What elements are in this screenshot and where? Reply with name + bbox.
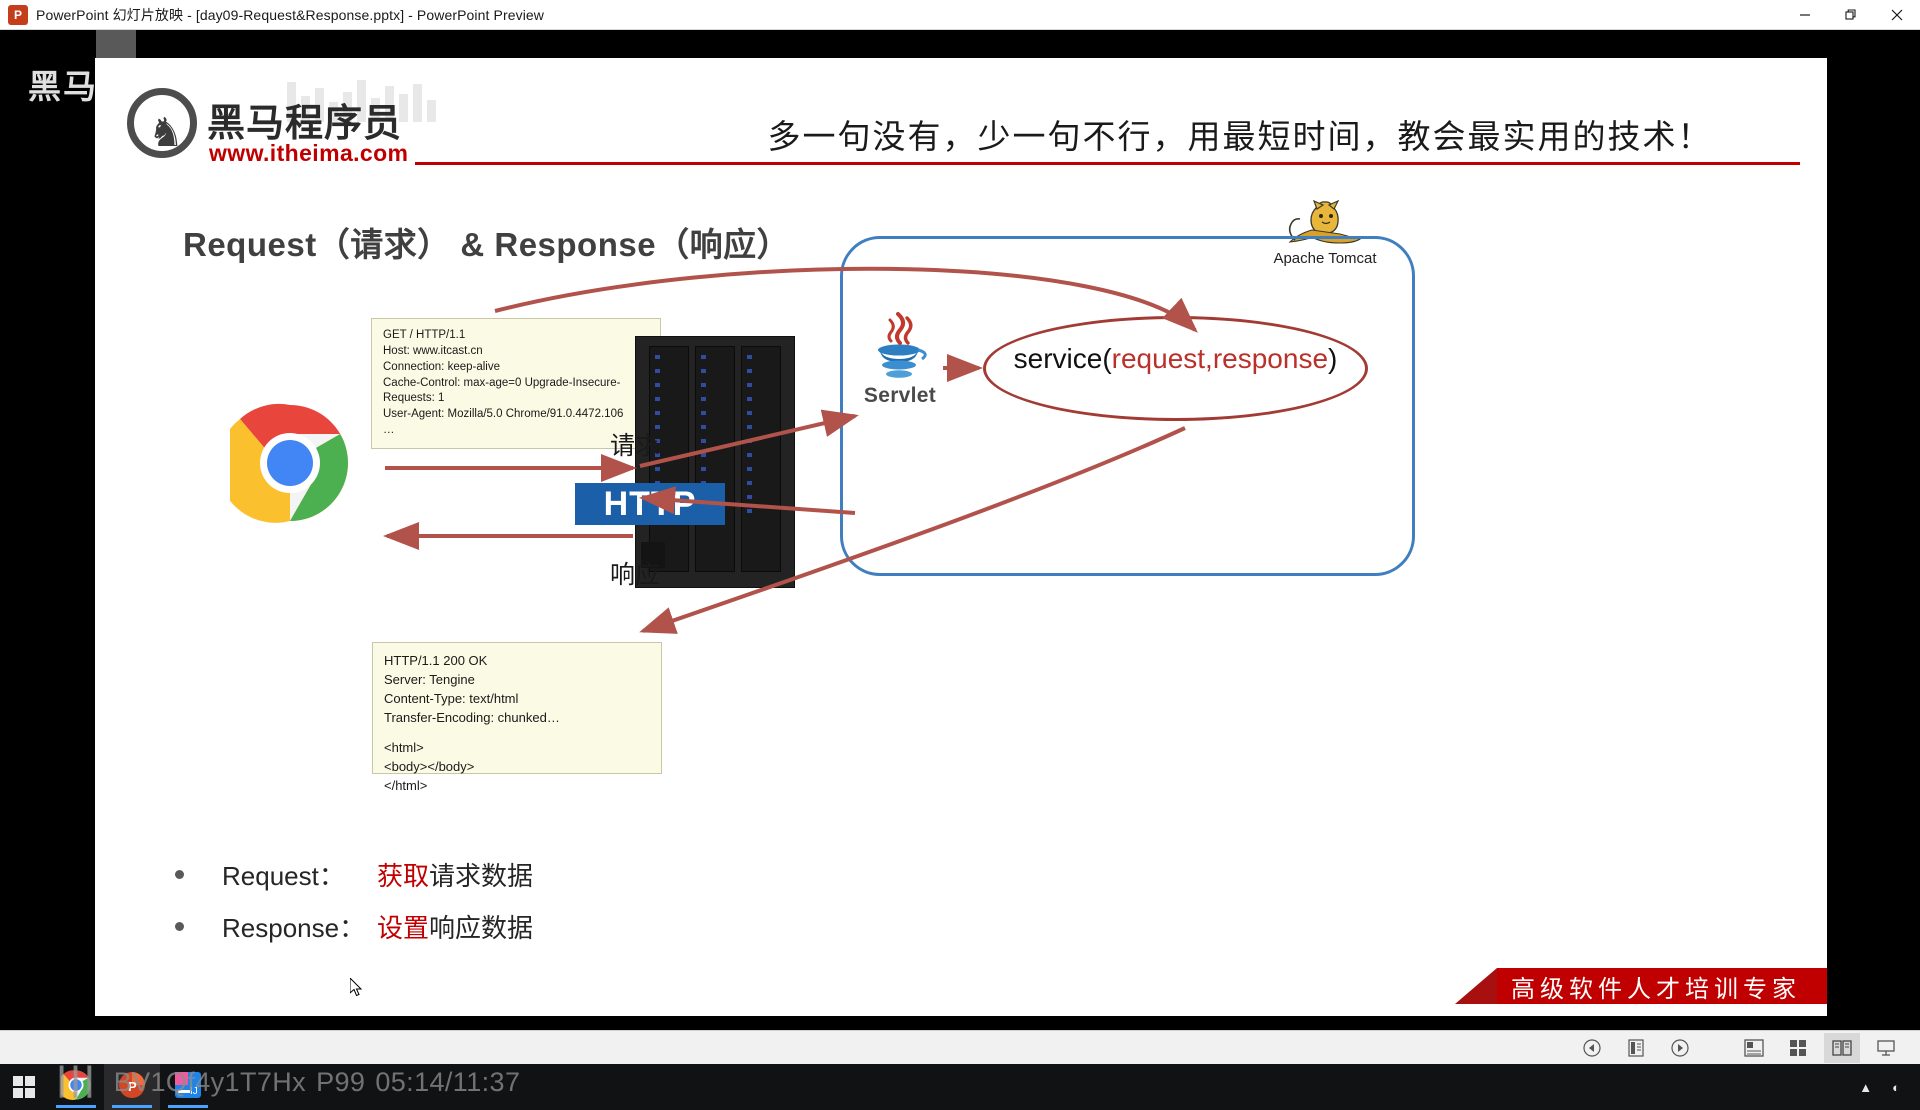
response-body-0: <html>	[384, 739, 651, 758]
chrome-icon	[230, 403, 350, 523]
page-title: Request（请求） & Response（响应）	[183, 218, 790, 266]
previous-slide-button[interactable]	[1574, 1033, 1610, 1063]
slideshow-button[interactable]	[1868, 1033, 1904, 1063]
service-call-text: service(request,response)	[983, 343, 1368, 375]
service-suffix: )	[1328, 343, 1337, 374]
java-cup-icon	[864, 310, 936, 388]
taskbar-active-indicator	[168, 1105, 208, 1108]
slide-canvas: ♞ 黑马程序员 www.itheima.com 多一句没有，少一句不行，用最短时…	[95, 58, 1827, 1016]
svg-text:P: P	[128, 1079, 137, 1094]
servlet-node: Servlet	[860, 310, 940, 408]
footer-ribbon: 高级软件人才培训专家	[1455, 968, 1827, 1004]
http-response-box: HTTP/1.1 200 OK Server: Tengine Content-…	[372, 642, 662, 774]
bullet-list: Request： 获取 请求数据 Response： 设置 响应数据	[175, 848, 875, 952]
tray-chevron-up-icon[interactable]: ▲	[1859, 1080, 1872, 1095]
brand-logo: ♞ 黑马程序员 www.itheima.com	[127, 82, 457, 172]
request-flow-label: 请求	[575, 426, 695, 462]
bullet-highlight: 获取	[377, 856, 429, 893]
next-slide-button[interactable]	[1662, 1033, 1698, 1063]
minimize-icon[interactable]	[1782, 0, 1828, 29]
response-spacer	[384, 727, 651, 739]
service-prefix: service(	[1014, 343, 1112, 374]
restore-icon[interactable]	[1828, 0, 1874, 29]
close-icon[interactable]	[1874, 0, 1920, 29]
ribbon-arrow-decor	[1455, 968, 1497, 1004]
windows-taskbar: P IJ ▲ ◐	[0, 1064, 1920, 1110]
list-item: Response： 设置 响应数据	[175, 900, 875, 952]
slogan-divider	[415, 162, 1800, 165]
service-args: request,response	[1112, 343, 1328, 374]
ribbon-text: 高级软件人才培训专家	[1497, 968, 1827, 1004]
taskbar-chrome-icon[interactable]	[48, 1064, 104, 1110]
taskbar-powerpoint-icon[interactable]: P	[104, 1064, 160, 1110]
bullet-highlight: 设置	[377, 908, 429, 945]
slideshow-surface: 黑马程 ♞ 黑马程序员 www.itheima.com 多一句没有，少一句不行，…	[0, 30, 1920, 1080]
slide-sorter-button[interactable]	[1780, 1033, 1816, 1063]
response-body-1: <body></body>	[384, 758, 651, 777]
http-protocol-badge: HTTP	[575, 483, 725, 525]
bullet-rest: 响应数据	[429, 908, 533, 945]
logo-url: www.itheima.com	[209, 140, 408, 167]
tray-network-icon[interactable]: ◐	[1892, 1080, 1900, 1095]
response-line-0: HTTP/1.1 200 OK	[384, 652, 651, 671]
bullet-dot-icon	[175, 922, 184, 931]
horse-icon: ♞	[148, 113, 184, 153]
list-item: Request： 获取 请求数据	[175, 848, 875, 900]
taskbar-active-indicator	[112, 1105, 152, 1108]
mouse-cursor	[350, 978, 364, 1003]
logo-brand-name: 黑马程序员	[207, 92, 402, 147]
response-line-2: Content-Type: text/html	[384, 690, 651, 709]
bullet-term: Response：	[222, 908, 377, 945]
taskbar-active-indicator	[56, 1105, 96, 1108]
request-line-0: GET / HTTP/1.1	[383, 328, 650, 344]
reading-view-button[interactable]	[1824, 1033, 1860, 1063]
powerpoint-status-bar	[0, 1030, 1920, 1064]
bullet-rest: 请求数据	[429, 856, 533, 893]
window-title-bar: P PowerPoint 幻灯片放映 - [day09-Request&Resp…	[0, 0, 1920, 30]
view-controls	[1570, 1033, 1920, 1063]
response-line-3: Transfer-Encoding: chunked…	[384, 709, 651, 728]
response-line-1: Server: Tengine	[384, 671, 651, 690]
bullet-dot-icon	[175, 870, 184, 879]
taskbar-idea-icon[interactable]: IJ	[160, 1064, 216, 1110]
svg-text:IJ: IJ	[190, 1086, 198, 1097]
request-line-1: Host: www.itcast.cn	[383, 344, 650, 360]
bullet-term: Request：	[222, 856, 377, 893]
response-flow-label: 响应	[575, 555, 695, 591]
request-line-4: User-Agent: Mozilla/5.0 Chrome/91.0.4472…	[383, 407, 650, 423]
windows-start-icon[interactable]	[0, 1064, 48, 1110]
notes-button[interactable]	[1618, 1033, 1654, 1063]
response-body-2: </html>	[384, 777, 651, 796]
window-title: PowerPoint 幻灯片放映 - [day09-Request&Respon…	[36, 5, 544, 25]
logo-circle-icon: ♞	[127, 88, 197, 158]
request-line-3: Cache-Control: max-age=0 Upgrade-Insecur…	[383, 376, 650, 408]
server-rack-icon	[635, 336, 795, 588]
slide-slogan: 多一句没有，少一句不行，用最短时间，教会最实用的技术！	[680, 110, 1800, 158]
window-controls	[1782, 0, 1920, 29]
powerpoint-icon: P	[8, 5, 28, 25]
normal-view-button[interactable]	[1736, 1033, 1772, 1063]
system-tray: ▲ ◐	[1849, 1064, 1920, 1110]
request-line-2: Connection: keep-alive	[383, 360, 650, 376]
